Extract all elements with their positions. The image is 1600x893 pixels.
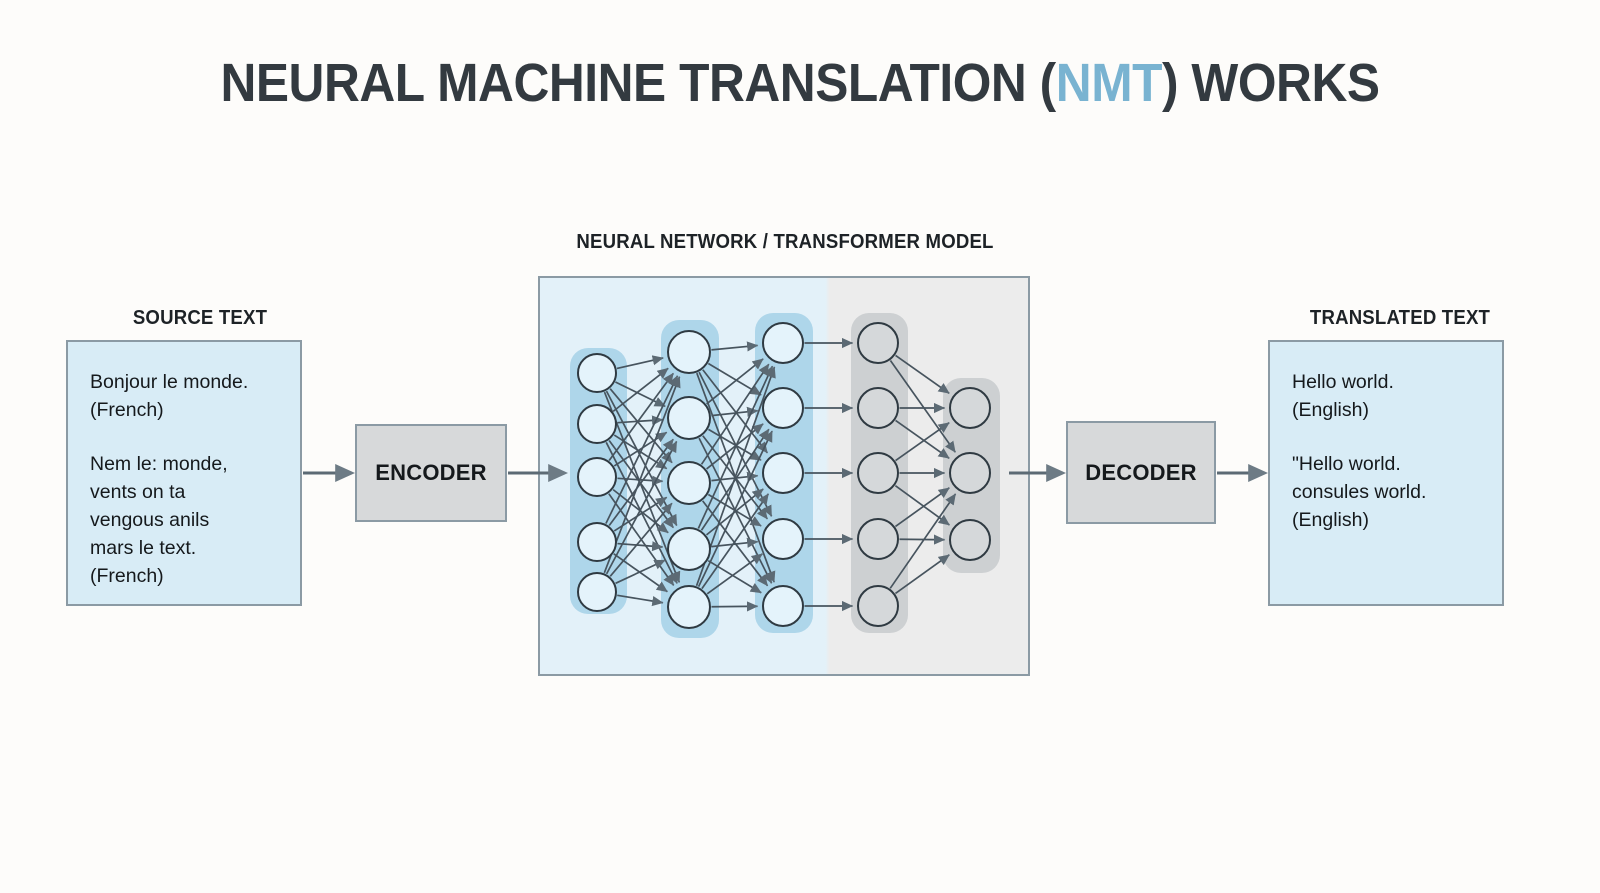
- neural-network-frame: [538, 276, 1030, 676]
- source-line-2: (French): [90, 396, 280, 424]
- source-line-5: vengous anils: [90, 506, 280, 534]
- translated-text-label: TRANSLATED TEXT: [1242, 307, 1558, 330]
- source-line-4: vents on ta: [90, 478, 280, 506]
- source-line-3: Nem le: monde,: [90, 450, 280, 478]
- target-line-3: "Hello world.: [1292, 450, 1482, 478]
- target-line-1: Hello world.: [1292, 368, 1482, 396]
- source-line-1: Bonjour le monde.: [90, 368, 280, 396]
- target-line-2: (English): [1292, 396, 1482, 424]
- translated-text-panel: Hello world. (English) "Hello world. con…: [1268, 340, 1504, 606]
- source-line-6: mars le text.: [90, 534, 280, 562]
- target-line-4: consules world.: [1292, 478, 1482, 506]
- target-line-5: (English): [1292, 506, 1482, 534]
- title-prefix: NEURAL MACHINE TRANSLATION (: [220, 53, 1055, 113]
- decoder-block: DECODER: [1066, 421, 1216, 524]
- title-suffix: ) WORKS: [1162, 53, 1380, 113]
- source-text-label: SOURCE TEXT: [51, 307, 349, 330]
- network-model-label: NEURAL NETWORK / TRANSFORMER MODEL: [548, 231, 1022, 254]
- encoder-block: ENCODER: [355, 424, 507, 522]
- title-accent-nmt: NMT: [1056, 53, 1162, 113]
- diagram-canvas: NEURAL MACHINE TRANSLATION (NMT) WORKS S…: [0, 0, 1600, 893]
- source-text-panel: Bonjour le monde. (French) Nem le: monde…: [66, 340, 302, 606]
- page-title: NEURAL MACHINE TRANSLATION (NMT) WORKS: [64, 52, 1536, 114]
- source-line-7: (French): [90, 562, 280, 590]
